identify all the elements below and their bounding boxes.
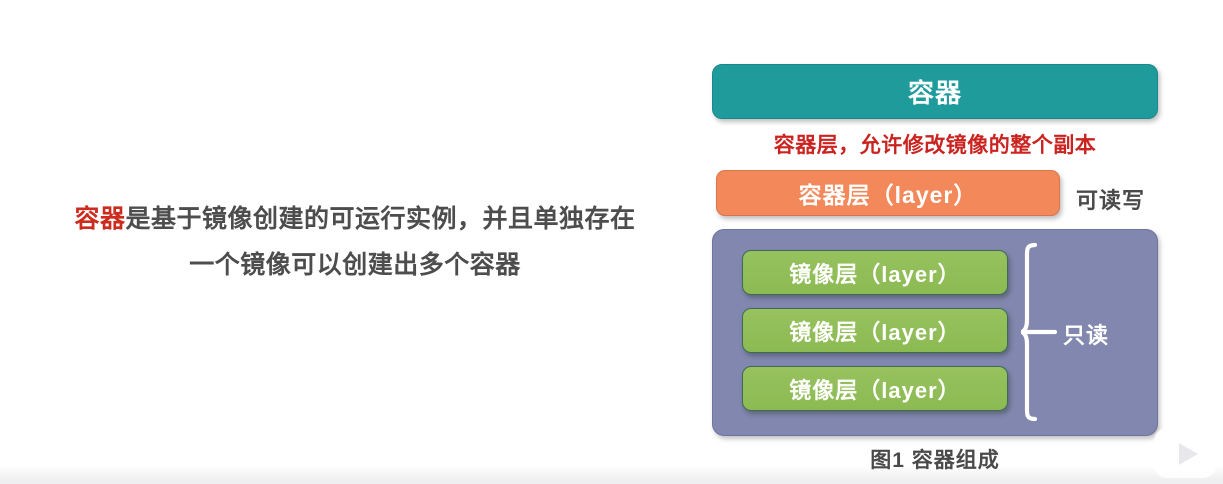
image-stack-box: 镜像层（layer） 镜像层（layer） 镜像层（layer） 只读 — [712, 229, 1158, 436]
read-write-label: 可读写 — [1076, 183, 1145, 215]
container-header-label: 容器 — [908, 73, 962, 110]
slide-canvas: 容器是基于镜像创建的可运行实例，并且单独存在 一个镜像可以创建出多个容器 容器 … — [0, 0, 1223, 484]
container-layer-annotation: 容器层，允许修改镜像的整个副本 — [712, 129, 1158, 159]
image-layer-row: 镜像层（layer） — [742, 250, 1008, 295]
figure-caption: 图1 容器组成 — [712, 444, 1158, 474]
explanation-line1: 是基于镜像创建的可运行实例，并且单独存在 — [126, 205, 636, 233]
image-layer-label: 镜像层（layer） — [789, 373, 960, 405]
image-layer-label: 镜像层（layer） — [789, 257, 960, 289]
image-layer-label: 镜像层（layer） — [789, 315, 960, 347]
image-layer-row: 镜像层（layer） — [742, 308, 1008, 353]
explanation-highlight: 容器 — [74, 205, 125, 233]
container-header-box: 容器 — [712, 64, 1158, 119]
read-only-label: 只读 — [1063, 318, 1109, 350]
curly-brace-icon — [1021, 242, 1057, 422]
explanation-text: 容器是基于镜像创建的可运行实例，并且单独存在 一个镜像可以创建出多个容器 — [60, 196, 650, 288]
bilibili-tv-play-logo-icon — [1148, 414, 1222, 480]
explanation-line2: 一个镜像可以创建出多个容器 — [60, 242, 650, 288]
image-layer-row: 镜像层（layer） — [742, 366, 1008, 411]
container-layer-box: 容器层（layer） — [716, 170, 1060, 216]
container-layer-label: 容器层（layer） — [799, 176, 978, 210]
